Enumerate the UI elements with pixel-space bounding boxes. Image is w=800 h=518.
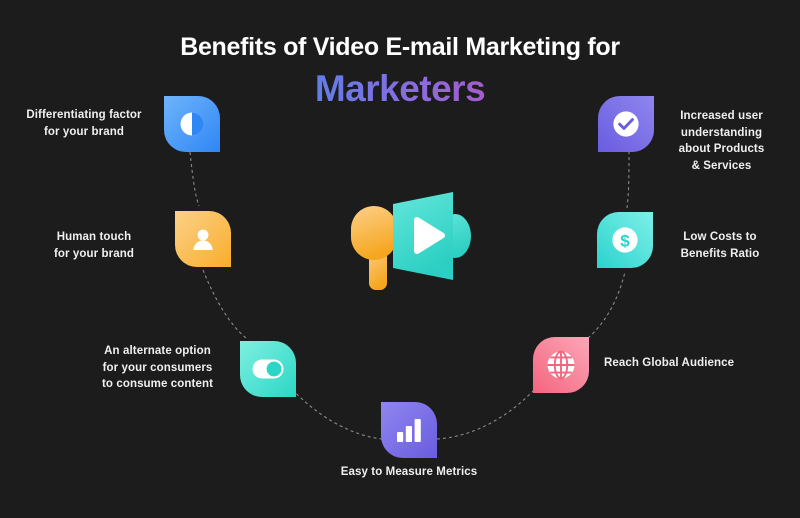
caption-line: & Services (655, 158, 788, 175)
caption-line: for your consumers (85, 360, 230, 377)
caption-alternate-option: An alternate option for your consumers t… (85, 343, 230, 393)
caption-line: An alternate option (85, 343, 230, 360)
check-circle-icon (612, 110, 640, 138)
caption-line: understanding (655, 125, 788, 142)
caption-human-touch: Human touch for your brand (20, 229, 168, 262)
caption-low-costs-to-benefits-ratio: Low Costs to Benefits Ratio (650, 229, 790, 262)
infographic-canvas: Benefits of Video E-mail Marketing for M… (0, 0, 800, 518)
user-icon (190, 226, 216, 252)
toggle-icon (252, 359, 284, 379)
caption-line: Increased user (655, 108, 788, 125)
caption-line: Low Costs to (650, 229, 790, 246)
caption-line: for your brand (10, 124, 158, 141)
megaphone-icon (337, 188, 483, 293)
dollar-icon: $ (611, 226, 639, 254)
title-line-primary: Benefits of Video E-mail Marketing for (0, 33, 800, 62)
title-line-highlight: Marketers (0, 69, 800, 110)
caption-line: Human touch (20, 229, 168, 246)
svg-text:$: $ (620, 231, 630, 250)
user-icon-tile[interactable] (175, 211, 231, 267)
check-circle-icon-tile[interactable] (598, 96, 654, 152)
caption-line: Easy to Measure Metrics (319, 464, 499, 481)
globe-icon-tile[interactable] (533, 337, 589, 393)
toggle-icon-tile[interactable] (240, 341, 296, 397)
contrast-icon (179, 111, 205, 137)
caption-easy-to-measure-metrics: Easy to Measure Metrics (319, 464, 499, 481)
caption-reach-global-audience: Reach Global Audience (604, 355, 794, 372)
caption-line: about Products (655, 141, 788, 158)
bar-chart-icon-tile[interactable] (381, 402, 437, 458)
caption-line: Benefits Ratio (650, 246, 790, 263)
caption-line: Differentiating factor (10, 107, 158, 124)
contrast-icon-tile[interactable] (164, 96, 220, 152)
dollar-icon-tile[interactable]: $ (597, 212, 653, 268)
page-title: Benefits of Video E-mail Marketing for M… (0, 33, 800, 109)
caption-increased-user-understanding: Increased user understanding about Produ… (655, 108, 788, 175)
caption-line: for your brand (20, 246, 168, 263)
globe-icon (546, 350, 576, 380)
caption-line: to consume content (85, 376, 230, 393)
caption-differentiating-factor: Differentiating factor for your brand (10, 107, 158, 140)
caption-line: Reach Global Audience (604, 355, 794, 372)
bar-chart-icon (396, 418, 422, 442)
